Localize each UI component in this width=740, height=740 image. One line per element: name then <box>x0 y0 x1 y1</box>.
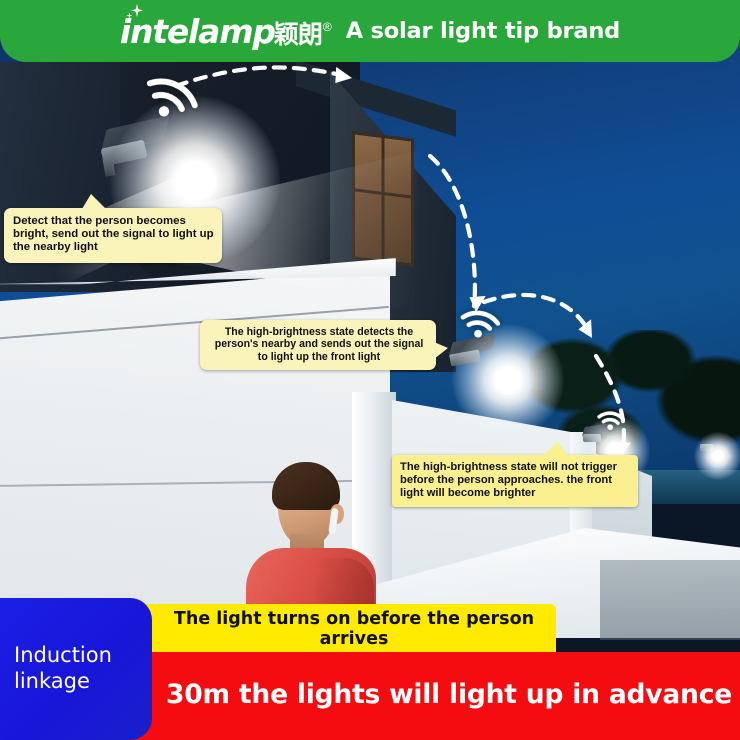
solar-lamp-2 <box>448 336 518 380</box>
brand-header: intelamp 颖朗 ® A solar light tip brand <box>0 0 740 62</box>
lamp-body <box>700 444 714 451</box>
solar-lamp-4 <box>700 440 722 456</box>
callout-tail <box>82 194 106 209</box>
registered-trademark-icon: ® <box>323 20 332 34</box>
lamp-body <box>583 434 601 442</box>
wifi-signal-icon <box>595 406 627 432</box>
banner-blue-line-2: linkage <box>14 669 152 695</box>
product-infographic: Detect that the person becomes bright, s… <box>0 0 740 740</box>
ground-shadow <box>600 560 740 640</box>
callout-bubble-detect: Detect that the person becomes bright, s… <box>4 208 222 263</box>
callout-bubble-no-trigger: The high-brightness state will not trigg… <box>392 455 638 507</box>
banner-blue-line-1: Induction <box>14 643 152 669</box>
callout-text-3: The high-brightness state will not trigg… <box>400 461 617 499</box>
banner-red-text: 30m the lights will light up in advance <box>136 679 732 714</box>
header-tagline: A solar light tip brand <box>346 18 620 44</box>
banner-blue-induction-linkage: Induction linkage <box>0 598 152 740</box>
banner-yellow-text: The light turns on before the person arr… <box>128 610 556 651</box>
lit-window <box>352 131 414 267</box>
person-figure <box>246 462 376 622</box>
brand-logo: intelamp 颖朗 ® <box>120 12 332 51</box>
window-mullion-vertical <box>382 138 385 260</box>
callout-bubble-detect-nearby: The high-brightness state detects the pe… <box>200 320 436 370</box>
callout-tail <box>542 442 568 456</box>
callout-text-2: The high-brightness state detects the pe… <box>215 326 424 363</box>
banner-yellow: The light turns on before the person arr… <box>128 604 556 658</box>
callout-tail <box>434 342 448 359</box>
callout-text-1: Detect that the person becomes bright, s… <box>13 215 214 253</box>
logo-wordmark: intelamp <box>120 12 275 51</box>
banner-red: 30m the lights will light up in advance <box>128 652 740 740</box>
logo-chinese: 颖朗 <box>274 15 322 51</box>
